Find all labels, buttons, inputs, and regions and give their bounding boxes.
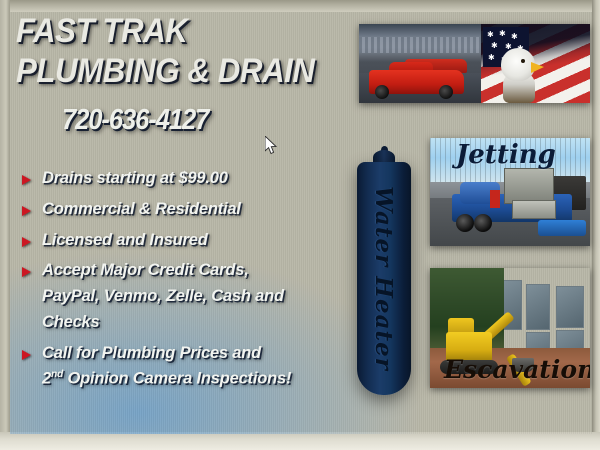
jetting-equipment-box-2 (512, 200, 556, 219)
red-triangle-bullet-icon (22, 206, 31, 216)
list-item-label: Call for Plumbing Prices and (42, 343, 261, 365)
red-triangle-bullet-icon (22, 267, 31, 277)
water-heater-graphic: Water Heater (357, 150, 411, 395)
phone-number: 720-636-4127 (62, 104, 208, 137)
list-item-label: Checks (42, 312, 100, 334)
list-item-label-ordinal: 2nd Opinion Camera Inspections! (42, 368, 291, 390)
eagle-head (501, 48, 535, 81)
car-wheel-rear (439, 85, 453, 99)
jetting-label: Jetting (456, 140, 556, 170)
list-item-label: PayPal, Venmo, Zelle, Cash and (42, 286, 284, 308)
list-item: Accept Major Credit Cards, (22, 260, 352, 282)
photo-dragstrip (359, 24, 481, 103)
photo-border-left (0, 0, 10, 450)
photo-jetting: Jetting (430, 138, 590, 246)
company-name-line-2: PLUMBING & DRAIN (16, 54, 338, 88)
eagle-eye (521, 59, 525, 63)
ordinal-suffix: nd (51, 369, 63, 380)
jetting-equipment-box (504, 168, 554, 204)
photo-border-top (0, 0, 600, 12)
jetting-blue-tarp (538, 220, 586, 236)
list-item-continuation: Checks (22, 312, 352, 334)
list-item-label: Licensed and Insured (42, 230, 208, 252)
trailer-wheel-rear (474, 214, 492, 232)
red-triangle-bullet-icon (22, 237, 31, 247)
list-item: Licensed and Insured (22, 230, 352, 252)
jetting-red-canister (490, 190, 500, 208)
ordinal-number: 2 (42, 370, 51, 388)
water-heater-label: Water Heater (357, 162, 411, 395)
photo-eagle-flag: ✱ ✱ ✱ ✱ ✱ ✱ ✱ ✱ (481, 24, 590, 103)
trailer-wheel-front (456, 214, 474, 232)
building-window (556, 286, 584, 328)
red-triangle-bullet-icon (22, 350, 31, 360)
dragstrip-grandstands (359, 37, 481, 53)
company-name-line-1: FAST TRAK (16, 14, 338, 48)
screenshot-canvas: FAST TRAK PLUMBING & DRAIN 720-636-4127 … (0, 0, 600, 450)
list-item-continuation: PayPal, Venmo, Zelle, Cash and (22, 286, 352, 308)
list-item-label: Commercial & Residential (42, 199, 241, 221)
list-item-continuation: 2nd Opinion Camera Inspections! (22, 368, 352, 390)
photo-excavation: Escavation (430, 268, 590, 388)
bullet-spacer (22, 293, 31, 303)
list-item: Call for Plumbing Prices and (22, 343, 352, 365)
list-item-label: Accept Major Credit Cards, (42, 260, 249, 282)
building-window (526, 284, 550, 330)
photo-dragcar-eagle: ✱ ✱ ✱ ✱ ✱ ✱ ✱ ✱ (359, 24, 590, 103)
list-item-label: Drains starting at $99.00 (42, 168, 228, 190)
excavation-label: Escavation (444, 355, 590, 384)
eagle-beak-icon (531, 62, 544, 73)
red-triangle-bullet-icon (22, 175, 31, 185)
list-item: Drains starting at $99.00 (22, 168, 352, 190)
bullet-spacer (22, 319, 31, 329)
photo-border-bottom (0, 432, 600, 450)
bullet-spacer (22, 375, 31, 385)
service-bullet-list: Drains starting at $99.00 Commercial & R… (22, 168, 352, 400)
photo-border-right (592, 0, 600, 450)
headline-block: FAST TRAK PLUMBING & DRAIN (16, 14, 366, 88)
list-item: Commercial & Residential (22, 199, 352, 221)
water-heater-tank: Water Heater (357, 162, 411, 395)
ordinal-rest: Opinion Camera Inspections! (63, 370, 291, 388)
car-wheel-front (375, 85, 389, 99)
